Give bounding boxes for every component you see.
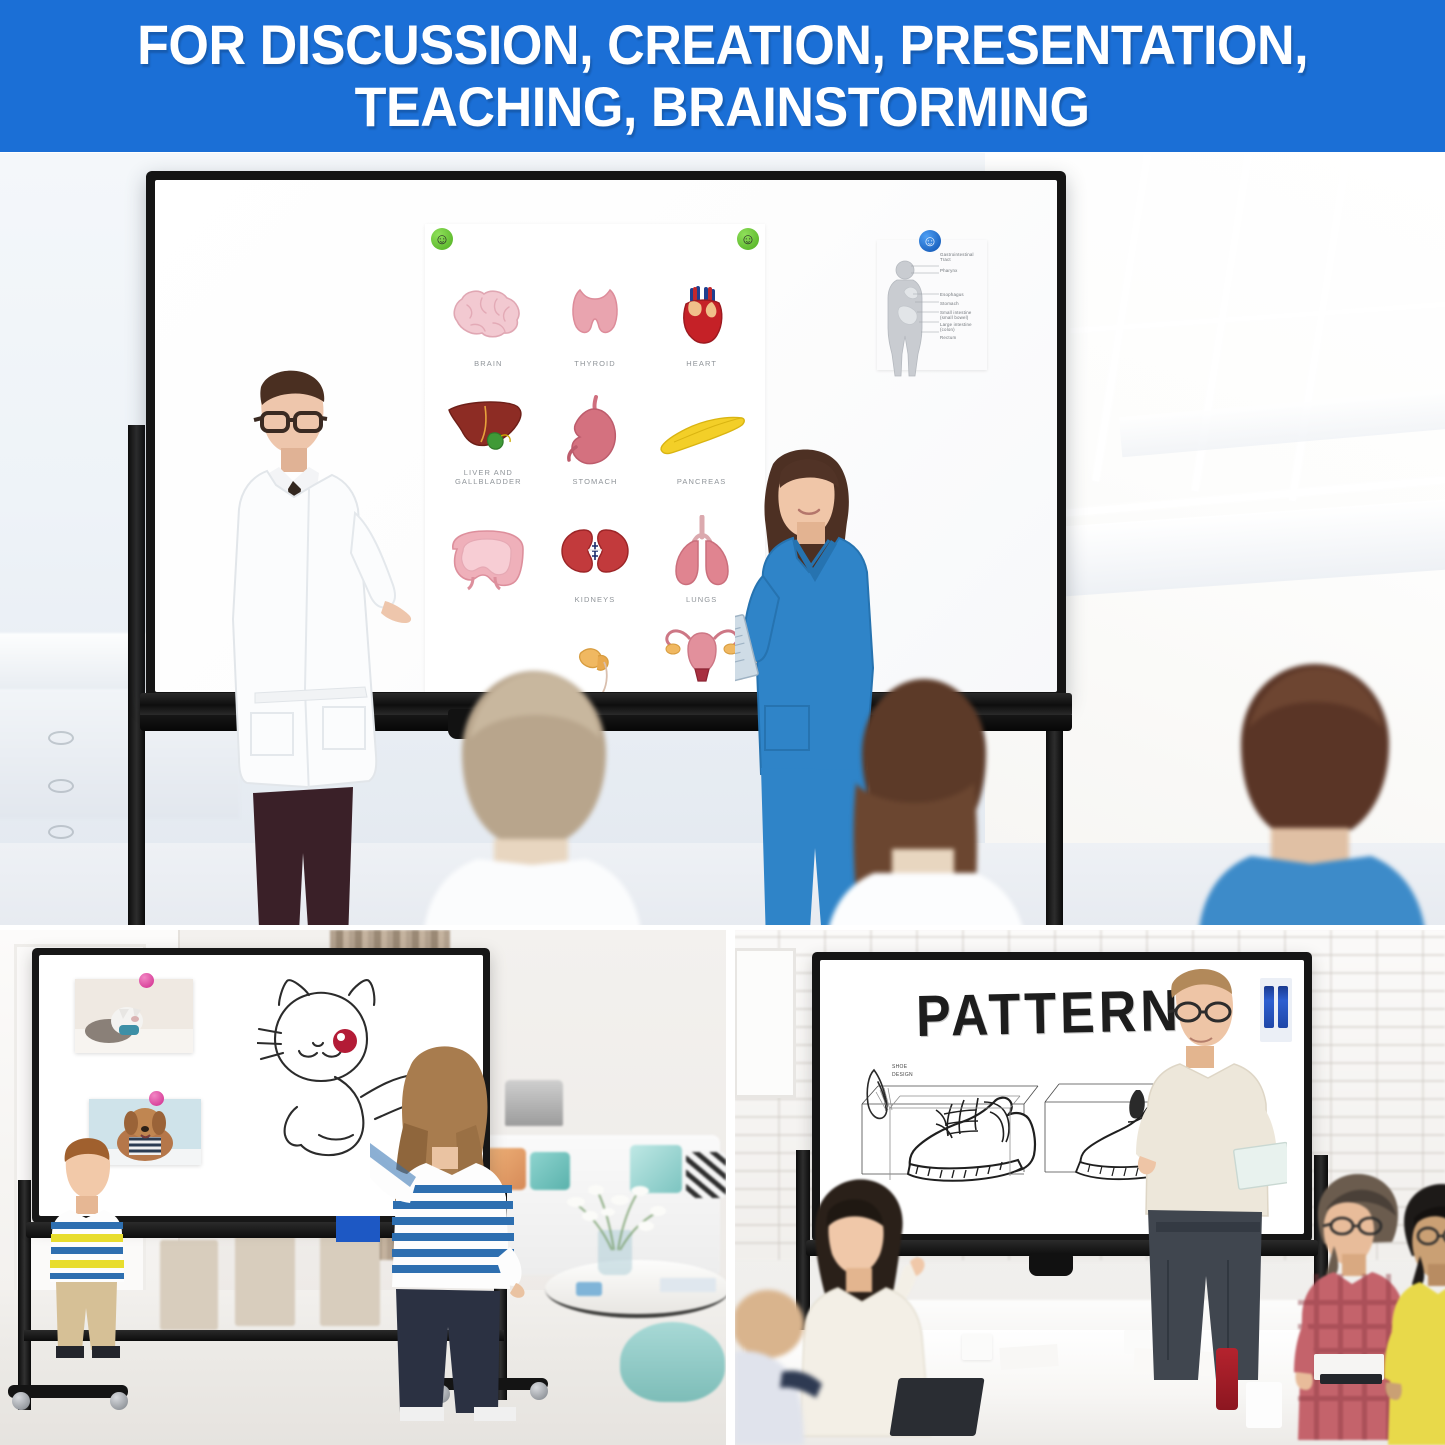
stomach-icon	[564, 392, 626, 474]
presenter-designer	[1132, 960, 1287, 1390]
product-feature-image: FOR DISCUSSION, CREATION, PRESENTATION, …	[0, 0, 1445, 1445]
panel-design-meeting: PATTERN	[734, 930, 1445, 1445]
panel-home-classroom	[0, 930, 726, 1445]
thyroid-icon	[567, 274, 623, 356]
smartphone	[1320, 1374, 1382, 1384]
organ-label: HEART	[686, 359, 717, 368]
teal-ottoman	[620, 1322, 725, 1402]
sketch-note-2: DESIGN	[892, 1072, 913, 1078]
organ-cell: KIDNEYS	[542, 486, 649, 604]
gi-label: Stomach	[940, 301, 959, 306]
organ-label: THYROID	[574, 359, 615, 368]
lungs-icon	[666, 510, 738, 592]
organ-label: STOMACH	[572, 477, 617, 486]
magnet-pink-puppy[interactable]	[149, 1091, 164, 1106]
paper-sheet	[999, 1344, 1058, 1370]
dining-chair	[160, 1240, 218, 1330]
whiteboard-tilt-knob[interactable]	[1029, 1254, 1073, 1276]
cabinet-knob	[48, 731, 74, 745]
organ-label: LIVER AND GALLBLADDER	[435, 468, 542, 486]
organ-label: PANCREAS	[677, 477, 727, 486]
panel-divider-horizontal	[0, 925, 1445, 930]
sketch-note-1: SHOE	[892, 1064, 907, 1070]
cabinet-knob	[48, 825, 74, 839]
dining-chair	[235, 1230, 295, 1326]
caster-wheel[interactable]	[12, 1392, 30, 1410]
audience-member-3	[1185, 658, 1435, 925]
sofa-cushion-pattern	[686, 1152, 726, 1198]
presenter-doctor	[205, 363, 415, 925]
heart-icon	[676, 274, 728, 356]
cabinet-knob	[48, 779, 74, 793]
liver-gallbladder-icon	[445, 383, 531, 465]
wall-frame	[734, 948, 796, 1098]
book-stack	[660, 1278, 716, 1292]
gi-label: Small intestine (small bowel)	[940, 310, 984, 321]
attendee-man-yellow	[1382, 1182, 1445, 1445]
female-reproductive-icon	[660, 610, 744, 692]
boy-watching	[48, 1130, 128, 1375]
audience-member-1	[410, 663, 655, 925]
white-flowers	[562, 1176, 672, 1251]
brain-icon	[449, 274, 527, 356]
whiteboard-stand-post-left	[128, 425, 145, 925]
organ-cell: THYROID	[542, 250, 649, 368]
pancreas-icon	[658, 392, 746, 474]
organ-label: LUNGS	[686, 595, 717, 604]
kidneys-icon	[558, 510, 632, 592]
caster-wheel[interactable]	[110, 1392, 128, 1410]
organ-cell: BRAIN	[435, 250, 542, 368]
header-banner: FOR DISCUSSION, CREATION, PRESENTATION, …	[0, 0, 1445, 152]
white-mug	[1246, 1382, 1282, 1428]
panel-medical-lecture: ☺ ☺ BRAIN	[0, 153, 1445, 925]
organ-cell	[435, 486, 542, 604]
intestine-icon	[443, 519, 533, 601]
gi-label: Large intestine (colon)	[940, 322, 984, 333]
anatomy-poster: ☺ ☺ BRAIN	[425, 224, 765, 692]
attendee-foreground-left	[734, 1290, 844, 1445]
organ-label: BRAIN	[474, 359, 502, 368]
red-water-bottle	[1216, 1348, 1238, 1410]
blue-cup	[576, 1282, 602, 1296]
coffee-cup	[962, 1334, 992, 1360]
gi-label: Esophagus	[940, 292, 964, 297]
tablet-device	[889, 1378, 984, 1436]
audience-member-2	[800, 673, 1025, 925]
gi-tract-poster: ☺	[877, 240, 987, 370]
magnet-pink-kitten[interactable]	[139, 973, 154, 988]
organ-cell: LIVER AND GALLBLADDER	[435, 368, 542, 486]
gi-label: Pharynx	[940, 268, 958, 273]
whiteboard-stand-post-left	[18, 1180, 31, 1410]
organ-cell: HEART	[648, 250, 755, 368]
gi-label: Rectum	[940, 335, 956, 340]
organ-label: KIDNEYS	[575, 595, 616, 604]
gi-label: Gastrointestinal Tract	[940, 252, 984, 263]
banner-line-2: TEACHING, BRAINSTORMING	[355, 76, 1090, 138]
girl-drawing	[370, 1035, 535, 1445]
organ-grid: BRAIN THYROID	[425, 224, 765, 692]
organ-cell: STOMACH	[542, 368, 649, 486]
banner-line-1: FOR DISCUSSION, CREATION, PRESENTATION,	[137, 14, 1308, 76]
kitten-photo	[75, 979, 193, 1053]
panel-divider-vertical	[726, 925, 735, 1445]
